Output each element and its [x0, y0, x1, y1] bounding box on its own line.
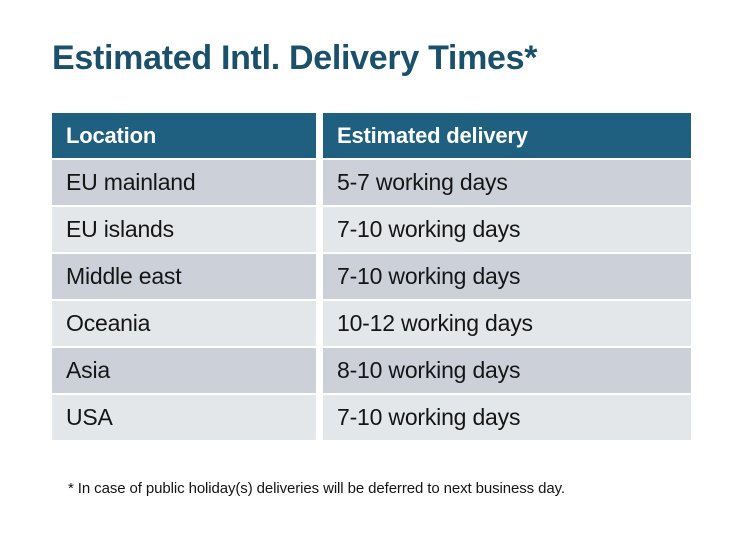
table-row: Oceania 10-12 working days	[52, 301, 691, 346]
cell-location: Asia	[52, 348, 316, 393]
column-header-location: Location	[52, 113, 316, 158]
column-header-estimated-delivery: Estimated delivery	[323, 113, 691, 158]
table-header-row: Location Estimated delivery	[52, 113, 691, 158]
cell-location: EU mainland	[52, 160, 316, 205]
cell-location: Middle east	[52, 254, 316, 299]
cell-delivery: 7-10 working days	[323, 207, 691, 252]
table-row: Asia 8-10 working days	[52, 348, 691, 393]
cell-location: EU islands	[52, 207, 316, 252]
column-gutter	[316, 160, 323, 205]
cell-location: Oceania	[52, 301, 316, 346]
table-row: EU islands 7-10 working days	[52, 207, 691, 252]
cell-delivery: 7-10 working days	[323, 395, 691, 440]
page-title: Estimated Intl. Delivery Times*	[52, 38, 537, 78]
column-gutter	[316, 301, 323, 346]
table-row: Middle east 7-10 working days	[52, 254, 691, 299]
column-gutter	[316, 348, 323, 393]
column-gutter	[316, 395, 323, 440]
cell-delivery: 8-10 working days	[323, 348, 691, 393]
cell-location: USA	[52, 395, 316, 440]
table-row: USA 7-10 working days	[52, 395, 691, 440]
cell-delivery: 7-10 working days	[323, 254, 691, 299]
delivery-times-table: Location Estimated delivery EU mainland …	[52, 113, 691, 442]
delivery-times-page: Estimated Intl. Delivery Times* Location…	[0, 0, 745, 536]
column-gutter	[316, 254, 323, 299]
footnote-text: * In case of public holiday(s) deliverie…	[68, 480, 565, 497]
column-gutter	[316, 113, 323, 158]
column-gutter	[316, 207, 323, 252]
table-row: EU mainland 5-7 working days	[52, 160, 691, 205]
cell-delivery: 10-12 working days	[323, 301, 691, 346]
cell-delivery: 5-7 working days	[323, 160, 691, 205]
